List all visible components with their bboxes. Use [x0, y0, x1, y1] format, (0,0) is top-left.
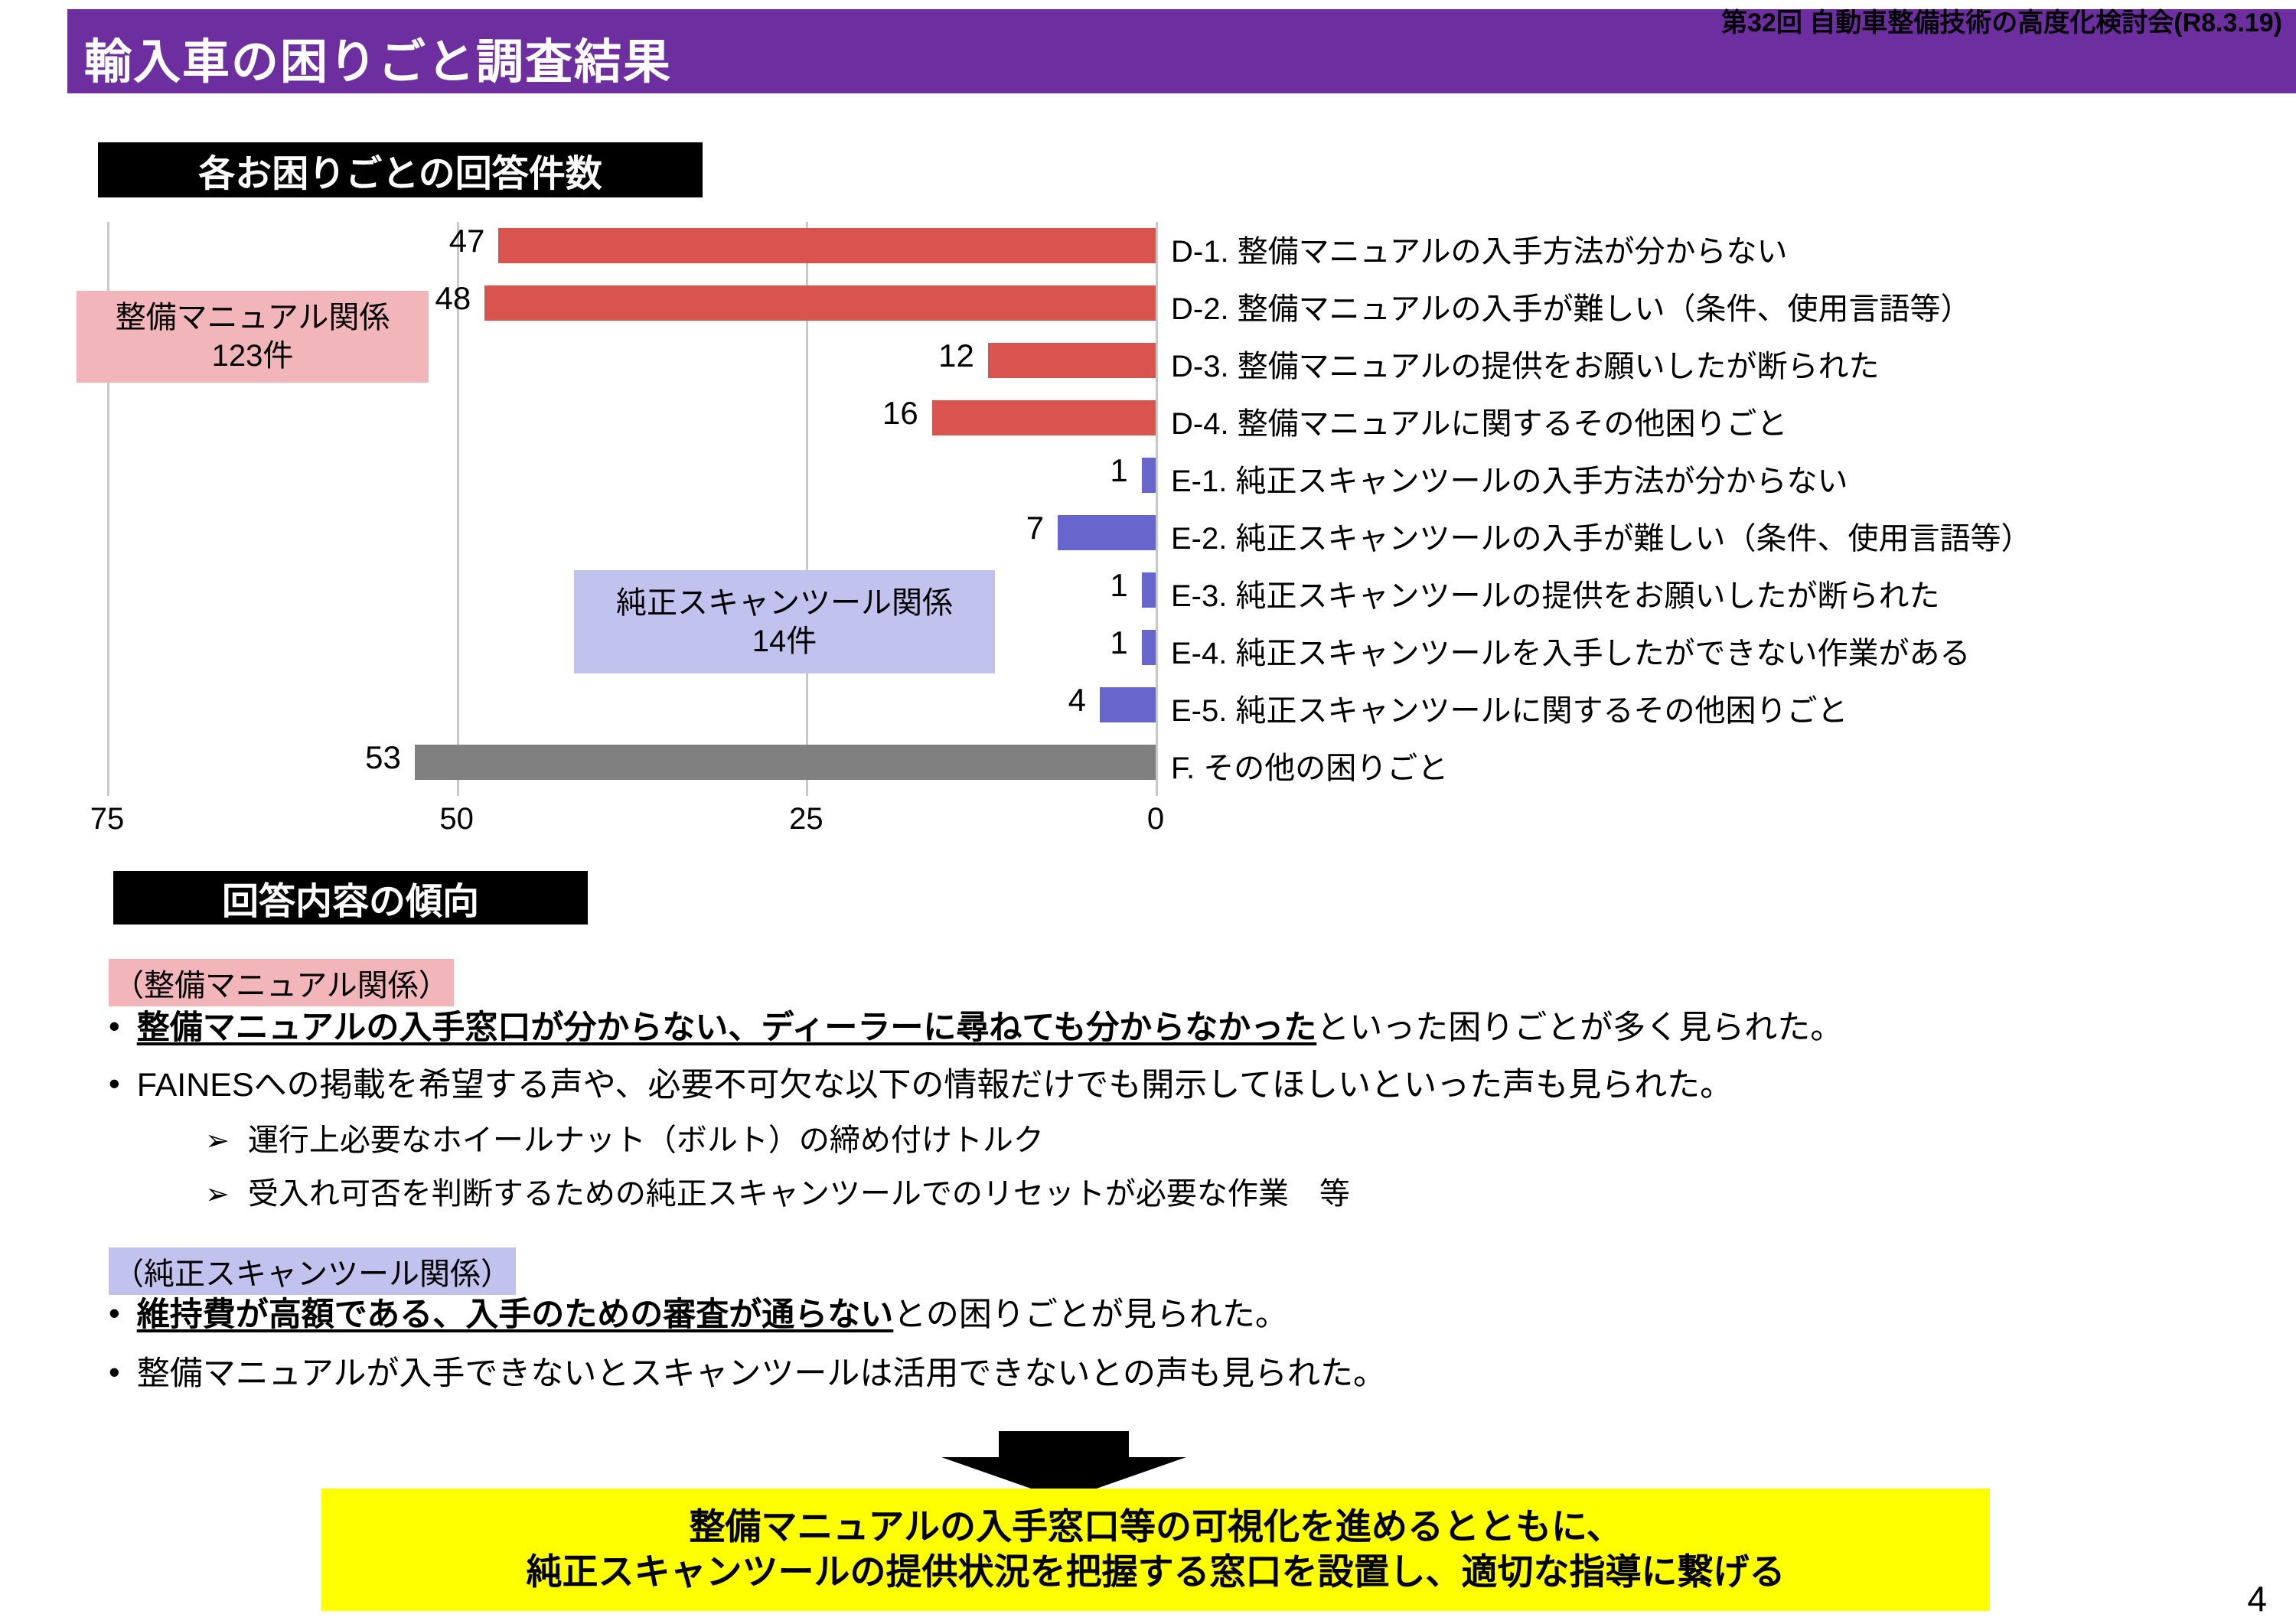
conclusion-line-1: 整備マニュアルの入手窓口等の可視化を進めるとともに、: [689, 1505, 1622, 1550]
callout-scan-category: 純正スキャンツール関係 14件: [574, 570, 995, 673]
tag-manual-related: （整備マニュアル関係）: [109, 959, 454, 1006]
callout-manual-line1: 整備マニュアル関係: [116, 298, 390, 337]
chart-category-label: E-2. 純正スキャンツールの入手が難しい（条件、使用言語等）: [1171, 514, 2031, 558]
meeting-label: 第32回 自動車整備技術の高度化検討会(R8.3.19): [1721, 2, 2282, 39]
chart-bar-row: 16: [107, 400, 1156, 435]
chart-bar-value: 1: [1110, 452, 1127, 489]
bullet-text: 維持費が高額である、入手のための審査が通らないとの困りごとが見られた。: [137, 1297, 1288, 1333]
chart-bar-value: 1: [1110, 567, 1127, 604]
chart-bar-row: 4: [107, 687, 1156, 722]
bullet-marker: •: [109, 1010, 120, 1042]
chart-bar-row: 1: [107, 458, 1156, 493]
bullet-text: 整備マニュアルの入手窓口が分からない、ディーラーに尋ねても分からなかったといった…: [137, 1010, 1844, 1046]
chart-bar: [1142, 630, 1156, 665]
chart-category-label: E-3. 純正スキャンツールの提供をお願いしたが断られた: [1171, 571, 1939, 615]
chart-bar-value: 4: [1068, 682, 1086, 719]
bullet-text: 整備マニュアルが入手できないとスキャンツールは活用できないとの声も見られた。: [137, 1356, 1386, 1392]
chart-bar-row: 53: [107, 745, 1156, 780]
sub-bullet-text: 運行上必要なホイールナット（ボルト）の締め付けトルク: [248, 1123, 1044, 1157]
bullet-item: • 整備マニュアルが入手できないとスキャンツールは活用できないとの声も見られた。: [109, 1356, 1386, 1392]
chart-axis-line: [107, 796, 1157, 798]
chart-bar-value: 53: [365, 739, 401, 776]
chart-category-label: D-4. 整備マニュアルに関するその他困りごと: [1171, 399, 1787, 443]
chart-bar: [415, 745, 1156, 780]
chart-bar: [932, 400, 1156, 435]
sub-bullet-text: 受入れ可否を判断するための純正スキャンツールでのリセットが必要な作業 等: [248, 1177, 1350, 1211]
chart-bar: [1100, 687, 1156, 722]
bullet-item: • FAINESへの掲載を希望する声や、必要不可欠な以下の情報だけでも開示してほ…: [109, 1068, 1733, 1104]
sub-bullet-item: ➢ 運行上必要なホイールナット（ボルト）の締め付けトルク: [205, 1123, 1044, 1158]
chart-bar-row: 47: [107, 228, 1156, 263]
callout-scan-line1: 純正スキャンツール関係: [616, 584, 953, 622]
chart-bar-value: 7: [1026, 510, 1044, 546]
chart-bar-row: 7: [107, 515, 1156, 550]
tag-scan-related: （純正スキャンツール関係）: [109, 1247, 516, 1295]
bullet-marker: •: [109, 1297, 120, 1329]
chart-category-label: D-1. 整備マニュアルの入手方法が分からない: [1171, 227, 1787, 271]
bullet-rest: といった困りごとが多く見られた。: [1316, 1009, 1843, 1046]
bullet-marker: •: [109, 1068, 120, 1100]
chart-bar: [988, 343, 1156, 378]
chart-category-label: E-4. 純正スキャンツールを入手したができない作業がある: [1171, 628, 1970, 673]
callout-scan-line2: 14件: [752, 622, 817, 660]
chart-bar-value: 12: [938, 338, 974, 374]
chart-category-label: E-1. 純正スキャンツールの入手方法が分からない: [1171, 456, 1848, 501]
chart-category-label: D-2. 整備マニュアルの入手が難しい（条件、使用言語等）: [1171, 284, 1971, 328]
bullet-item: • 維持費が高額である、入手のための審査が通らないとの困りごとが見られた。: [109, 1297, 1288, 1333]
chart-category-label: E-5. 純正スキャンツールに関するその他困りごと: [1171, 686, 1848, 730]
chart-bar-value: 47: [449, 223, 485, 259]
bullet-item: • 整備マニュアルの入手窓口が分からない、ディーラーに尋ねても分からなかったとい…: [109, 1010, 1843, 1046]
chart-bar: [1142, 572, 1156, 608]
conclusion-line-2: 純正スキャンツールの提供状況を把握する窓口を設置し、適切な指導に繋げる: [527, 1550, 1786, 1595]
chart-axis-tick: 25: [789, 802, 823, 836]
chart-category-label: F. その他の困りごと: [1171, 743, 1448, 788]
chart-gridline: [1156, 222, 1158, 796]
trend-section-header: 回答内容の傾向: [113, 871, 588, 925]
chart-category-label: D-3. 整備マニュアルの提供をお願いしたが断られた: [1171, 341, 1879, 386]
chart-bar: [1142, 458, 1156, 493]
bullet-rest: 整備マニュアルが入手できないとスキャンツールは活用できないとの声も見られた。: [137, 1355, 1386, 1392]
bullet-emphasis: 維持費が高額である、入手のための審査が通らない: [137, 1296, 894, 1333]
bullet-text: FAINESへの掲載を希望する声や、必要不可欠な以下の情報だけでも開示してほしい…: [137, 1068, 1733, 1104]
chart-bar: [484, 285, 1156, 321]
callout-manual-line2: 123件: [212, 337, 294, 375]
conclusion-box: 整備マニュアルの入手窓口等の可視化を進めるとともに、 純正スキャンツールの提供状…: [321, 1489, 1990, 1611]
bullet-emphasis: 整備マニュアルの入手窓口が分からない、ディーラーに尋ねても分からなかった: [137, 1009, 1317, 1046]
bullet-marker: •: [109, 1356, 120, 1388]
chart-axis-tick: 75: [90, 802, 125, 836]
chart-bar: [498, 228, 1156, 263]
arrow-right-icon: ➢: [205, 1123, 230, 1158]
chart-axis-tick: 50: [439, 802, 474, 836]
chart-axis-tick: 0: [1147, 802, 1164, 836]
chart-bar-value: 48: [435, 280, 471, 317]
sub-bullet-item: ➢ 受入れ可否を判断するための純正スキャンツールでのリセットが必要な作業 等: [205, 1177, 1350, 1211]
chart-bar: [1058, 515, 1156, 550]
chart-bar-value: 1: [1110, 624, 1127, 661]
page-number: 4: [2247, 1578, 2267, 1619]
arrow-right-icon: ➢: [205, 1177, 230, 1211]
page-title: 輸入車の困りごと調査結果: [84, 23, 672, 92]
callout-manual-category: 整備マニュアル関係 123件: [77, 291, 429, 383]
bullet-rest: FAINESへの掲載を希望する声や、必要不可欠な以下の情報だけでも開示してほしい…: [137, 1067, 1733, 1104]
bullet-rest: との困りごとが見られた。: [893, 1296, 1288, 1333]
chart-bar-value: 16: [882, 395, 918, 432]
chart-section-header: 各お困りごとの回答件数: [98, 142, 703, 197]
